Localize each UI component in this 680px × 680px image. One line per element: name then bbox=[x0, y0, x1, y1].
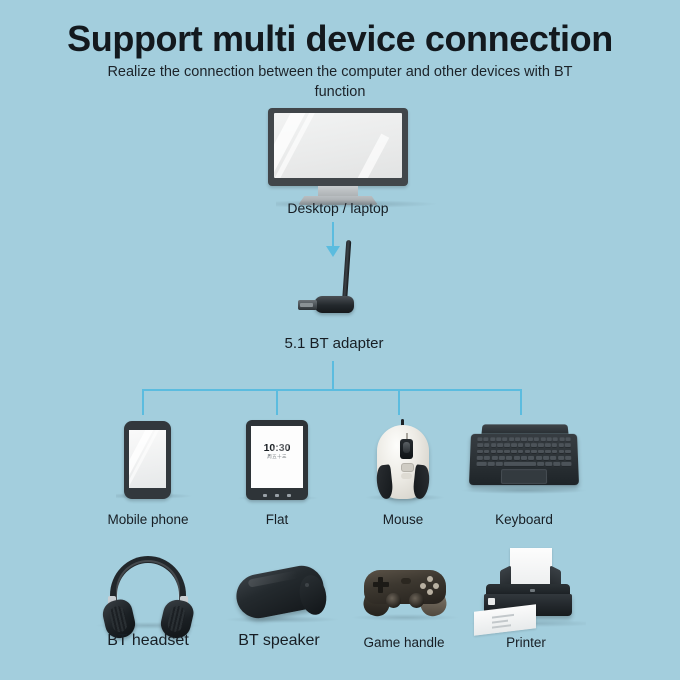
device-label-mouse: Mouse bbox=[351, 512, 455, 527]
printer-power-button bbox=[488, 598, 495, 605]
device-label-bt-headset: BT headset bbox=[96, 632, 200, 650]
connector-drop-mouse bbox=[398, 389, 400, 415]
phone-screen bbox=[129, 430, 166, 488]
gamepad-stick-right bbox=[409, 593, 424, 608]
tablet-screen: 10:30 周五十三 bbox=[251, 426, 303, 488]
screen-glare bbox=[344, 134, 390, 178]
device-label-mobile-phone: Mobile phone bbox=[96, 512, 200, 527]
mouse-dpi-button bbox=[401, 463, 414, 472]
mobile-phone-icon bbox=[124, 421, 171, 499]
tablet-home-controls bbox=[246, 494, 308, 497]
keyboard-hinge bbox=[481, 424, 568, 433]
gamepad-center-buttons bbox=[401, 578, 411, 584]
page-title: Support multi device connection bbox=[0, 18, 680, 60]
bt-adapter-icon bbox=[296, 240, 376, 318]
dongle-body bbox=[314, 296, 354, 313]
device-label-printer: Printer bbox=[474, 635, 578, 650]
mouse-extra-button bbox=[401, 473, 412, 479]
gamepad-dpad bbox=[378, 577, 383, 593]
desktop-laptop-label: Desktop / laptop bbox=[240, 200, 436, 216]
connector-drop-phone bbox=[142, 389, 144, 415]
infographic-canvas: Support multi device connection Realize … bbox=[0, 0, 680, 680]
headphones-icon bbox=[102, 556, 194, 628]
mouse-grip-left bbox=[375, 464, 393, 499]
page-subtitle: Realize the connection between the compu… bbox=[90, 62, 590, 102]
monitor-screen bbox=[274, 113, 402, 178]
mouse-icon bbox=[373, 419, 433, 501]
connector-stem bbox=[332, 361, 334, 390]
device-label-keyboard: Keyboard bbox=[472, 512, 576, 527]
gamepad-face-buttons bbox=[420, 576, 439, 595]
connector-drop-tablet bbox=[276, 389, 278, 415]
tablet-icon: 10:30 周五十三 bbox=[246, 420, 308, 500]
mouse-grip-right bbox=[412, 464, 430, 499]
speaker-button bbox=[305, 583, 309, 587]
keyboard-trackpad bbox=[501, 469, 547, 484]
device-label-flat: Flat bbox=[225, 512, 329, 527]
printer-icon bbox=[474, 548, 580, 626]
speaker-icon bbox=[232, 562, 332, 624]
device-label-bt-speaker: BT speaker bbox=[227, 632, 331, 650]
mouse-body bbox=[377, 425, 429, 499]
keyboard-icon bbox=[468, 424, 580, 492]
bt-adapter-label: 5.1 BT adapter bbox=[236, 335, 432, 352]
antenna bbox=[342, 240, 351, 302]
gamepad-icon bbox=[358, 562, 452, 620]
connector-drop-keyboard bbox=[520, 389, 522, 415]
device-label-game-handle: Game handle bbox=[352, 635, 456, 650]
gamepad-stick-left bbox=[386, 593, 401, 608]
connector-bus bbox=[142, 389, 522, 391]
printer-paper-tray-sheet bbox=[510, 548, 552, 588]
printer-status-led bbox=[530, 589, 535, 592]
desktop-laptop-icon bbox=[268, 108, 408, 186]
mouse-scroll-wheel bbox=[403, 442, 410, 453]
speaker-end-cap bbox=[296, 573, 329, 617]
usb-connector bbox=[298, 300, 317, 310]
keyboard-keys bbox=[476, 437, 571, 467]
